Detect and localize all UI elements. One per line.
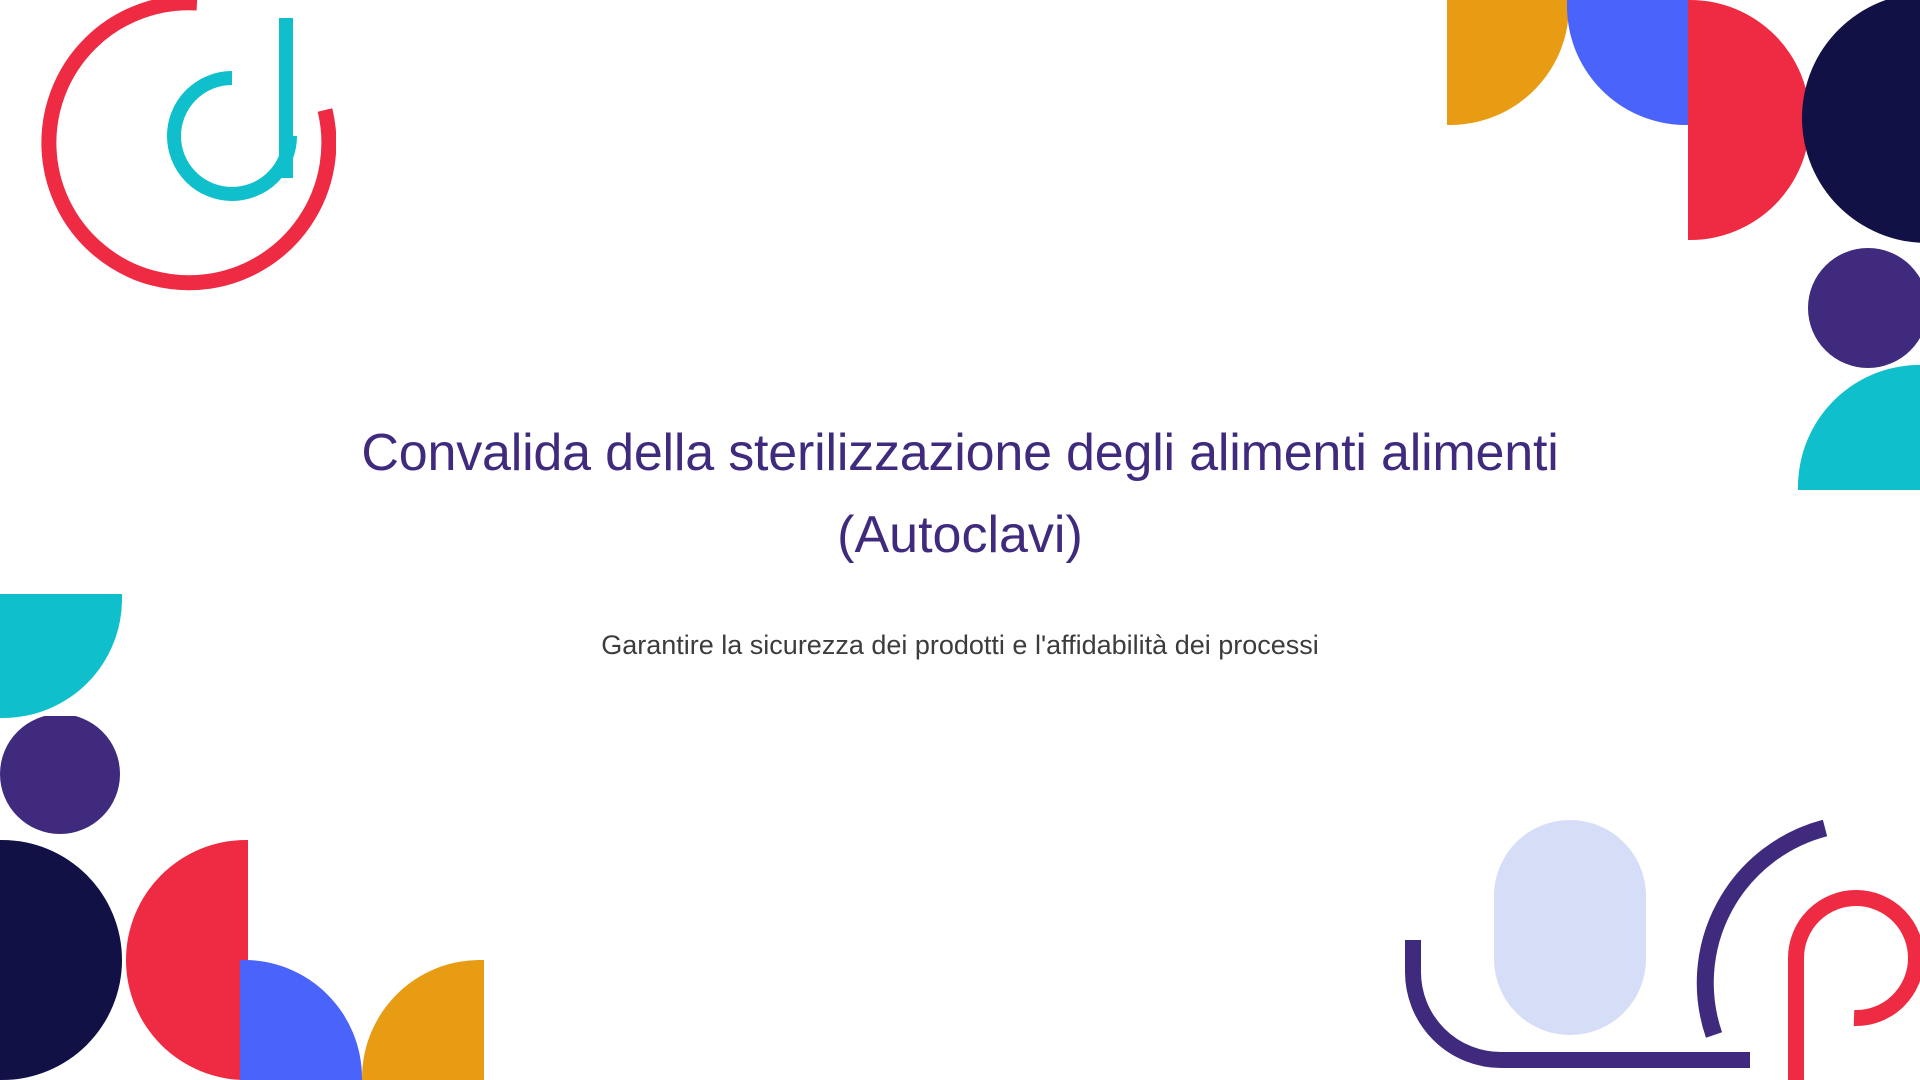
deco-purple-circle-bl	[0, 716, 125, 836]
title-line-2: alimenti	[1381, 424, 1559, 482]
deco-purple-corner-arc-br	[1405, 940, 1755, 1080]
slide-title-parenthetical: (Autoclavi)	[290, 502, 1630, 570]
slide-subtitle: Garantire la sicurezza dei prodotti e l'…	[290, 627, 1630, 665]
deco-lavender-pill-br	[1494, 820, 1646, 1035]
deco-red-p-glyph-br	[1742, 880, 1920, 1080]
title-line-1: Convalida della sterilizzazione degli al…	[361, 424, 1366, 482]
deco-orange-quarter-circle-tr	[1447, 0, 1569, 125]
deco-navy-circle-tr	[1802, 0, 1920, 250]
slide-text-block: Convalida della sterilizzazione degli al…	[290, 420, 1630, 665]
deco-teal-quarter-circle-tr	[1798, 365, 1920, 490]
deco-teal-quarter-circle-bl	[0, 594, 122, 718]
deco-red-half-circle-tr	[1688, 0, 1806, 240]
logo-d-bowl	[174, 78, 290, 194]
deco-blue-quarter-circle-bl	[240, 960, 362, 1080]
presentation-slide: Convalida della sterilizzazione degli al…	[0, 0, 1920, 1080]
deco-purple-open-arc-br	[1690, 820, 1830, 1040]
deco-orange-quarter-circle-bl	[362, 960, 484, 1080]
deco-blue-quarter-circle-tr	[1567, 0, 1689, 125]
brand-logo	[36, 0, 336, 292]
deco-navy-half-circle-bl	[0, 840, 122, 1080]
deco-purple-circle-tr	[1798, 245, 1920, 375]
slide-title: Convalida della sterilizzazione degli al…	[290, 420, 1630, 488]
deco-red-half-circle-bl	[126, 840, 248, 1080]
